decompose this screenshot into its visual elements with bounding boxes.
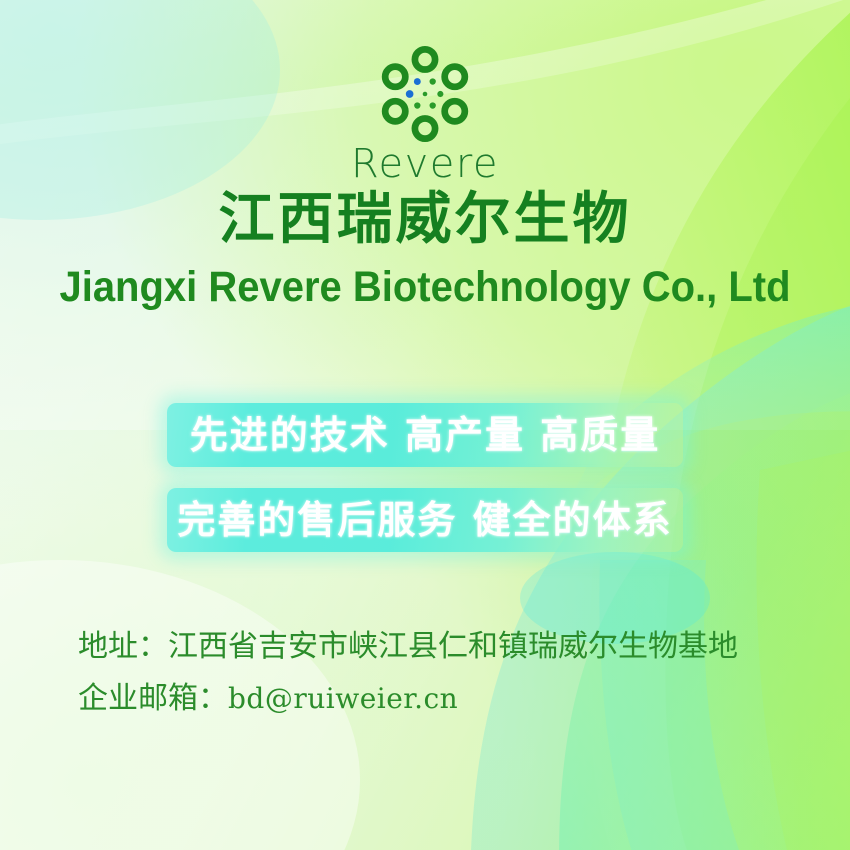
brand-logo-block: Revere — [0, 46, 850, 184]
contact-address-label: 地址： — [78, 629, 168, 664]
company-name-english: Jiangxi Revere Biotechnology Co., Ltd — [30, 266, 821, 309]
slogan-banner-1-text: 先进的技术 高产量 高质量 — [190, 416, 660, 454]
company-profile-card: Revere 江西瑞威尔生物 Jiangxi Revere Biotechnol… — [0, 0, 850, 850]
contact-address-value: 江西省吉安市峡江县仁和镇瑞威尔生物基地 — [168, 629, 738, 664]
contact-email-label: 企业邮箱： — [78, 681, 228, 716]
slogan-banner-group: 先进的技术 高产量 高质量 完善的售后服务 健全的体系 — [0, 403, 850, 552]
slogan-banner-2: 完善的售后服务 健全的体系 — [167, 488, 683, 552]
slogan-banner-2-text: 完善的售后服务 健全的体系 — [177, 501, 672, 539]
brand-wordmark: Revere — [0, 144, 850, 184]
contact-address-line: 地址：江西省吉安市峡江县仁和镇瑞威尔生物基地 — [78, 632, 738, 662]
contact-block: 地址：江西省吉安市峡江县仁和镇瑞威尔生物基地 企业邮箱：bd@ruiweier.… — [78, 632, 738, 714]
contact-email-value[interactable]: bd@ruiweier.cn — [228, 682, 458, 715]
revere-hex-dots-logo-icon — [377, 46, 473, 142]
slogan-banner-1: 先进的技术 高产量 高质量 — [167, 403, 683, 467]
company-name-chinese: 江西瑞威尔生物 — [0, 192, 850, 248]
contact-email-line: 企业邮箱：bd@ruiweier.cn — [78, 684, 738, 714]
